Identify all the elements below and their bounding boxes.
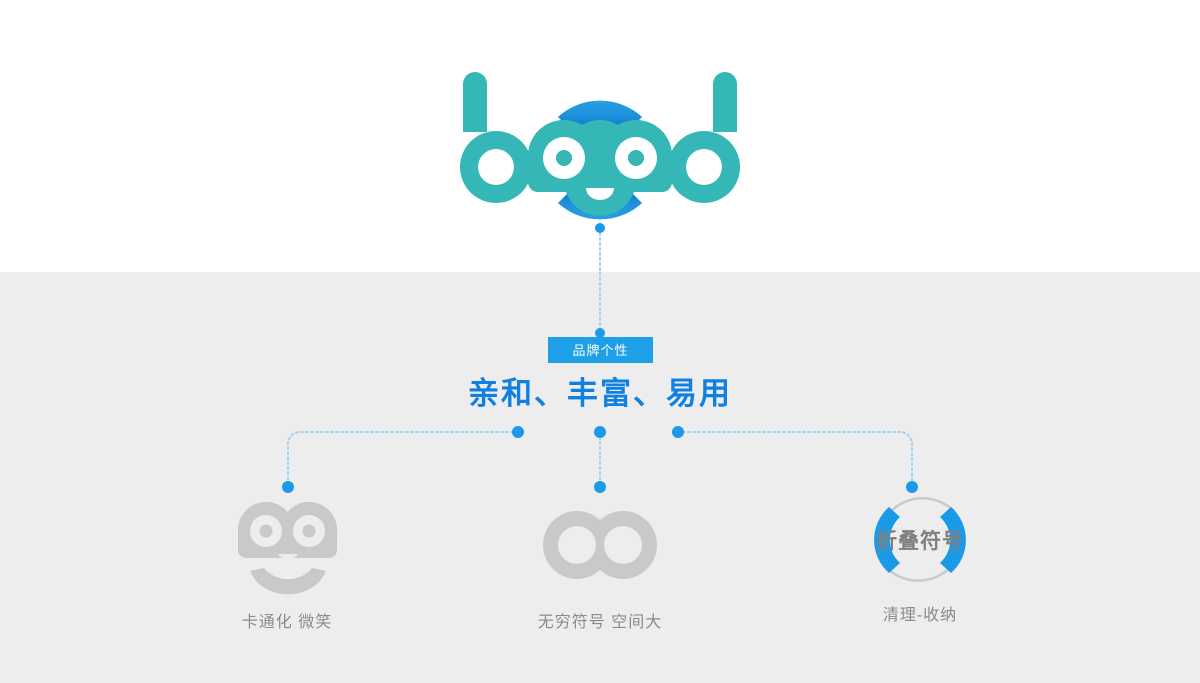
brand-personality-badge: 品牌个性 [548, 337, 653, 363]
smile-arc [250, 568, 326, 594]
feature-label: 清理-收纳 [790, 608, 1050, 624]
poster-canvas: 品牌个性 亲和、丰富、易用 卡通化 微笑 [0, 0, 1200, 683]
brand-logo [455, 70, 745, 220]
feature-item-infinity-space: 无穷符号 空间大 [470, 492, 730, 631]
logo-eye-right-pupil [628, 150, 644, 166]
logo-mascot-face [528, 120, 672, 216]
feature-icon-slot: 折叠符号 [790, 487, 1050, 592]
logo-letter-d-counter [686, 149, 722, 185]
boad-mascot-logo [455, 70, 745, 220]
fold-symbol-ring-text: 折叠符号 [876, 529, 964, 553]
logo-letter-b-counter [478, 149, 514, 185]
fold-symbol-cycle-icon: 折叠符号 [855, 481, 985, 599]
infinity-symbol-icon [541, 509, 659, 581]
logo-letter-b-stem [463, 72, 487, 132]
feature-label: 无穷符号 空间大 [470, 615, 730, 631]
mascot-face-smile-icon [230, 492, 345, 597]
feature-label: 卡通化 微笑 [157, 615, 417, 631]
feature-icon-slot [470, 492, 730, 597]
badge-label: 品牌个性 [572, 344, 628, 357]
feature-item-cartoon-smile: 卡通化 微笑 [157, 492, 417, 631]
logo-letter-d-stem [713, 72, 737, 132]
feature-item-tidy-storage: 折叠符号 清理-收纳 [790, 487, 1050, 624]
logo-eye-left-pupil [556, 150, 572, 166]
page-title: 亲和、丰富、易用 [0, 378, 1200, 409]
feature-icon-slot [157, 492, 417, 597]
